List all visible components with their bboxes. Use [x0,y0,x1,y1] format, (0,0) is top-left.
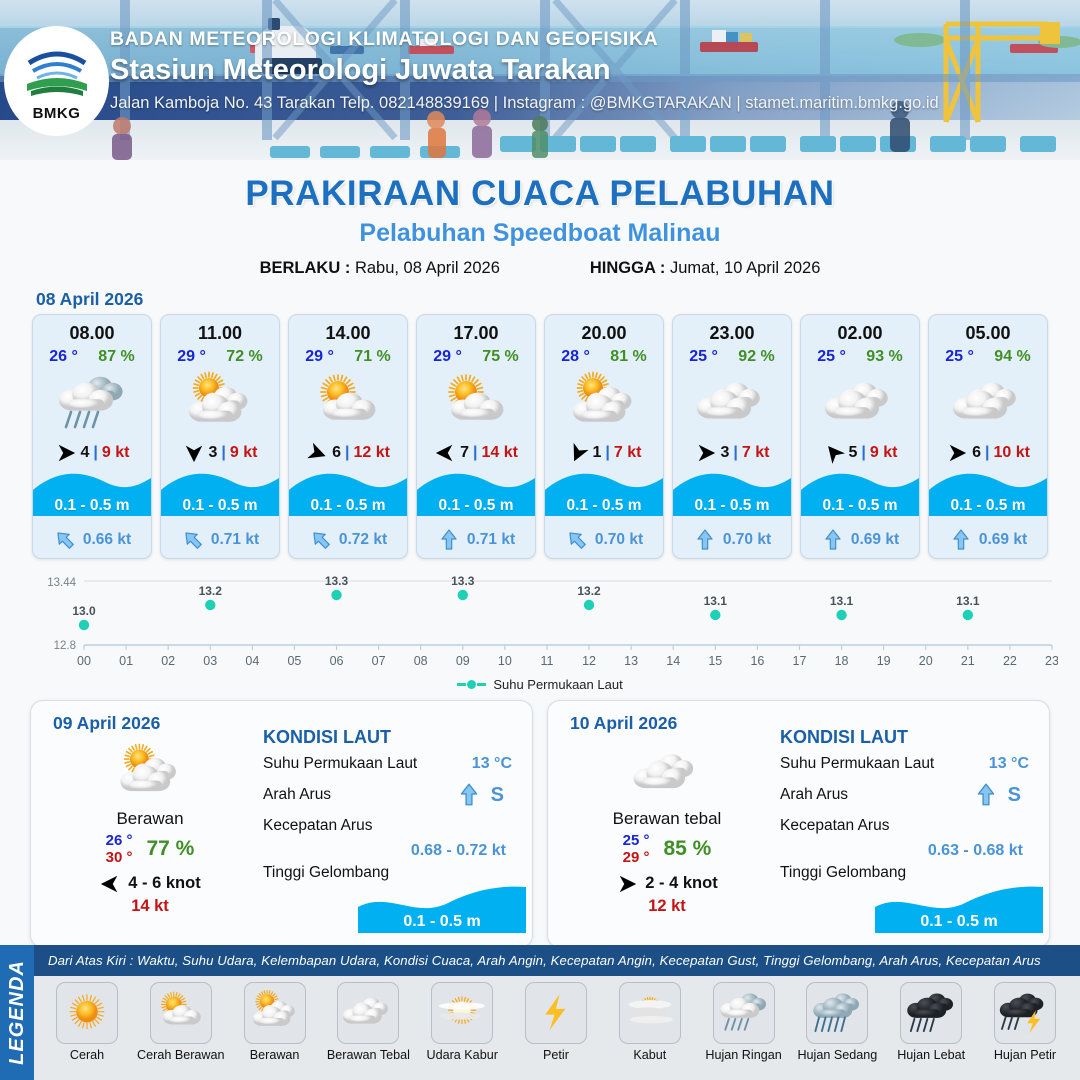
svg-text:04: 04 [245,654,259,668]
sst-chart-svg: 13.4412.80001020304050607080910111213141… [22,567,1058,675]
panel-sst-value: 13 °C [472,755,512,773]
haze-icon [431,988,493,1034]
sun-icon [56,988,118,1034]
current-direction-icon [176,523,210,557]
sst-chart: 13.4412.80001020304050607080910111213141… [22,567,1058,675]
card-wave: 0.1 - 0.5 m [417,468,535,522]
legend-item-label: Hujan Ringan [699,1048,789,1062]
panel-current-speed-label: Kecepatan Arus [780,817,889,834]
hourly-forecast-row: 08.00 26 ° 87 % [0,314,1080,559]
panel-sst-value: 13 °C [989,755,1029,773]
card-current: 0.66 kt [33,522,151,558]
card-current-speed: 0.70 kt [723,531,771,549]
card-wave: 0.1 - 0.5 m [545,468,663,522]
panel-date: 10 April 2026 [570,713,677,734]
svg-text:12: 12 [582,654,596,668]
card-humidity: 87 % [98,348,134,366]
panel-current-dir-value: S [456,782,504,808]
card-gust: 9 kt [230,444,258,462]
card-weather-icon [929,366,1047,438]
card-humidity: 93 % [866,348,902,366]
svg-text:09: 09 [456,654,470,668]
legend-item: Hujan Petir [980,982,1070,1062]
hourly-card[interactable]: 05.00 25 ° 94 % [928,314,1048,559]
cloudy-icon [945,370,1031,434]
card-wind-speed: 3 [721,444,730,462]
partly-cloudy-icon [244,988,306,1034]
svg-text:02: 02 [161,654,175,668]
card-time: 05.00 [929,323,1047,344]
card-wave: 0.1 - 0.5 m [673,468,791,522]
panel-temp-min: 25 ° [623,832,650,849]
legend-item-label: Berawan Tebal [323,1048,413,1062]
panel-temp-max: 30 ° [106,849,133,866]
legend-item: Hujan Sedang [792,982,882,1062]
card-temperature: 25 ° [945,348,974,366]
card-gust: 7 kt [614,444,642,462]
current-direction-icon [437,528,461,552]
legend-item: Kabut [605,982,695,1062]
legend-item-label: Cerah Berawan [136,1048,226,1062]
panel-sea-section-title: KONDISI LAUT [780,727,1035,748]
current-direction-icon [304,523,338,557]
wind-direction-icon [818,438,849,469]
panel-sea-section-title: KONDISI LAUT [263,727,518,748]
card-wave: 0.1 - 0.5 m [929,468,1047,522]
current-direction-icon [456,782,482,808]
rain-light-icon [49,370,135,434]
wind-direction-icon [563,438,592,467]
hourly-card[interactable]: 20.00 28 ° 81 % [544,314,664,559]
partly-cloudy-icon [561,370,647,434]
panel-humidity: 77 % [146,837,194,861]
card-weather-icon [417,366,535,438]
card-current: 0.71 kt [417,522,535,558]
legend-item-icon [337,982,399,1044]
card-wind-speed: 6 [332,444,341,462]
card-wave-height: 0.1 - 0.5 m [545,497,663,515]
legend-item-label: Hujan Lebat [886,1048,976,1062]
panel-current-dir-value: S [973,782,1021,808]
legend-item-label: Berawan [230,1048,320,1062]
page-header: BMKG BADAN METEOROLOGI KLIMATOLOGI DAN G… [0,0,1080,160]
cloudy-icon [817,370,903,434]
svg-text:07: 07 [372,654,386,668]
sun-cloud-icon [150,988,212,1034]
svg-text:13.3: 13.3 [325,574,349,588]
card-wave-height: 0.1 - 0.5 m [673,497,791,515]
card-wind: 7 | 14 kt [417,438,535,468]
partly-cloudy-icon [109,742,191,803]
card-time: 02.00 [801,323,919,344]
legend-item-label: Petir [511,1048,601,1062]
card-time: 11.00 [161,323,279,344]
current-direction-icon [693,528,717,552]
panel-weather-icon [41,739,259,805]
wind-direction-icon [946,442,968,464]
panel-temp-min: 26 ° [106,832,133,849]
legend-side-title-text: LEGENDA [6,960,29,1065]
svg-text:10: 10 [498,654,512,668]
svg-text:13.1: 13.1 [956,594,980,608]
svg-text:11: 11 [540,654,553,668]
valid-until-label: HINGGA : [590,259,665,277]
wind-direction-icon [99,873,121,895]
station-name: Stasiun Meteorologi Juwata Tarakan [110,54,939,87]
svg-text:13.44: 13.44 [47,577,76,589]
panel-weather-icon [558,739,776,805]
svg-text:13: 13 [624,654,638,668]
card-wave: 0.1 - 0.5 m [161,468,279,522]
card-temperature: 28 ° [561,348,590,366]
validity-row: BERLAKU : Rabu, 08 April 2026 HINGGA : J… [0,259,1080,278]
panel-wind-range: 4 - 6 knot [128,874,200,893]
legend-item-icon [525,982,587,1044]
legend-item-label: Hujan Petir [980,1048,1070,1062]
card-current: 0.70 kt [673,522,791,558]
card-current-speed: 0.72 kt [339,531,387,549]
panel-weather-desc: Berawan tebal [558,809,776,829]
card-gust: 9 kt [102,444,130,462]
sst-chart-legend: Suhu Permukaan Laut [0,677,1080,692]
panel-wave-value: 0.1 - 0.5 m [875,913,1043,931]
valid-from-value: Rabu, 08 April 2026 [355,259,500,277]
card-current: 0.71 kt [161,522,279,558]
svg-text:22: 22 [1003,654,1017,668]
hourly-card[interactable]: 08.00 26 ° 87 % [32,314,152,559]
svg-text:05: 05 [287,654,301,668]
card-wave-height: 0.1 - 0.5 m [801,497,919,515]
current-direction-icon [821,528,845,552]
panel-wave: 0.1 - 0.5 m [875,885,1043,937]
legend-item-icon [994,982,1056,1044]
card-wave-height: 0.1 - 0.5 m [33,497,151,515]
card-weather-icon [673,366,791,438]
sst-legend-label: Suhu Permukaan Laut [493,677,622,692]
panel-current-dir-row: Arah Arus S [780,786,1035,817]
card-gust: 10 kt [993,444,1029,462]
svg-text:14: 14 [666,654,680,668]
legend-items: Cerah Cerah Berawan [34,976,1080,1080]
card-wind-speed: 4 [81,444,90,462]
svg-text:13.0: 13.0 [72,604,96,618]
card-wind: 4 | 9 kt [33,438,151,468]
page-subtitle: Pelabuhan Speedboat Malinau [0,219,1080,248]
card-weather-icon [289,366,407,438]
panel-wind-range: 2 - 4 knot [645,874,717,893]
legend-item-label: Hujan Sedang [792,1048,882,1062]
card-wave: 0.1 - 0.5 m [33,468,151,522]
legend-item-icon [244,982,306,1044]
svg-text:08: 08 [414,654,428,668]
card-time: 23.00 [673,323,791,344]
lightning-icon [525,988,587,1034]
svg-text:19: 19 [877,654,891,668]
legend-note: Dari Atas Kiri : Waktu, Suhu Udara, Kele… [34,945,1080,976]
svg-text:20: 20 [919,654,933,668]
daily-forecast-panel[interactable]: 10 April 2026 [547,700,1050,948]
card-humidity: 72 % [226,348,262,366]
fog-icon [619,988,681,1034]
legend-item-icon [431,982,493,1044]
hourly-card[interactable]: 11.00 29 ° 72 % [160,314,280,559]
card-wind-speed: 3 [209,444,218,462]
card-weather-icon [801,366,919,438]
card-current: 0.69 kt [929,522,1047,558]
card-weather-icon [33,366,151,438]
svg-text:13.2: 13.2 [577,584,601,598]
legend-item-icon [150,982,212,1044]
hourly-day-label: 08 April 2026 [36,289,1080,310]
card-current: 0.72 kt [289,522,407,558]
partly-cloudy-icon [177,370,263,434]
panel-current-dir-row: Arah Arus S [263,786,518,817]
card-wave-height: 0.1 - 0.5 m [161,497,279,515]
title-block: PRAKIRAAN CUACA PELABUHAN Pelabuhan Spee… [0,174,1080,278]
card-weather-icon [545,366,663,438]
agency-name: BADAN METEOROLOGI KLIMATOLOGI DAN GEOFIS… [110,28,939,51]
panel-temp-max: 29 ° [623,849,650,866]
wind-direction-icon [616,873,638,895]
card-current: 0.70 kt [545,522,663,558]
card-gust: 9 kt [870,444,898,462]
legend-item: Cerah Berawan [136,982,226,1062]
card-humidity: 71 % [354,348,390,366]
svg-text:03: 03 [203,654,217,668]
card-current-speed: 0.69 kt [851,531,899,549]
card-temperature: 29 ° [177,348,206,366]
panel-date: 09 April 2026 [53,713,160,734]
card-humidity: 81 % [610,348,646,366]
hourly-card[interactable]: 17.00 29 ° 75 % [416,314,536,559]
card-time: 17.00 [417,323,535,344]
panel-wind: 4 - 6 knot [41,873,259,895]
card-time: 20.00 [545,323,663,344]
legend-item: Petir [511,982,601,1062]
valid-until-value: Jumat, 10 April 2026 [670,259,820,277]
card-wind-separator: | [733,444,737,462]
hourly-card[interactable]: 14.00 29 ° 71 % [288,314,408,559]
daily-forecast-row: 09 April 2026 [0,692,1080,948]
bmkg-logo: BMKG [4,26,109,136]
legend-item-icon [806,982,868,1044]
legend-item: Hujan Ringan [699,982,789,1062]
cloudy-icon [626,742,708,803]
panel-current-speed-label: Kecepatan Arus [263,817,372,834]
legend-item: Udara Kabur [417,982,507,1062]
contact-info: Jalan Kamboja No. 43 Tarakan Telp. 08214… [110,94,939,113]
svg-text:21: 21 [961,654,975,668]
card-wave: 0.1 - 0.5 m [801,468,919,522]
card-humidity: 92 % [738,348,774,366]
valid-from-label: BERLAKU : [260,259,351,277]
current-direction-icon [48,523,82,557]
panel-current-speed-row: Kecepatan Arus [780,817,1035,848]
svg-text:06: 06 [330,654,344,668]
legend-item: Hujan Lebat [886,982,976,1062]
card-wave-height: 0.1 - 0.5 m [929,497,1047,515]
valid-from: BERLAKU : Rabu, 08 April 2026 [260,259,500,278]
svg-text:15: 15 [708,654,722,668]
legend-item-icon [619,982,681,1044]
svg-text:13.1: 13.1 [704,594,728,608]
card-wind-separator: | [93,444,97,462]
current-direction-icon [949,528,973,552]
card-wind-separator: | [861,444,865,462]
panel-wind: 2 - 4 knot [558,873,776,895]
panel-wave: 0.1 - 0.5 m [358,885,526,937]
card-wind-separator: | [473,444,477,462]
thunderstorm-icon [994,988,1056,1034]
card-wind-speed: 6 [972,444,981,462]
legend-side-title: LEGENDA [0,945,34,1080]
panel-wave-label: Tinggi Gelombang [780,864,906,881]
rain-light-icon [713,988,775,1034]
card-wind: 3 | 9 kt [161,438,279,468]
svg-text:13.2: 13.2 [199,584,223,598]
legend-item: Berawan [230,982,320,1062]
daily-forecast-panel[interactable]: 09 April 2026 [30,700,533,948]
card-wind: 6 | 10 kt [929,438,1047,468]
svg-text:01: 01 [119,654,133,668]
card-current-speed: 0.66 kt [83,531,131,549]
page-title: PRAKIRAAN CUACA PELABUHAN [0,174,1080,214]
svg-text:13.3: 13.3 [451,574,475,588]
card-wind: 5 | 9 kt [801,438,919,468]
sun-cloud-icon [433,370,519,434]
card-temperature: 29 ° [433,348,462,366]
panel-current-speed-row: Kecepatan Arus [263,817,518,848]
bmkg-logo-icon [21,41,93,103]
card-wind: 1 | 7 kt [545,438,663,468]
card-wind-separator: | [345,444,349,462]
card-temperature: 26 ° [49,348,78,366]
card-humidity: 75 % [482,348,518,366]
svg-text:12.8: 12.8 [54,640,76,652]
cloudy-icon [689,370,775,434]
panel-sst-label: Suhu Permukaan Laut [263,755,417,772]
panel-humidity: 85 % [663,837,711,861]
card-weather-icon [161,366,279,438]
card-wind-separator: | [221,444,225,462]
current-direction-icon [973,782,999,808]
card-temperature: 25 ° [689,348,718,366]
panel-gust: 12 kt [558,897,776,916]
svg-text:23: 23 [1045,654,1058,668]
panel-weather-desc: Berawan [41,809,259,829]
panel-sst-label: Suhu Permukaan Laut [780,755,934,772]
legend-section: LEGENDA Dari Atas Kiri : Waktu, Suhu Uda… [0,945,1080,1080]
legend-item-icon [56,982,118,1044]
legend-item-label: Cerah [42,1048,132,1062]
card-wind: 6 | 12 kt [289,438,407,468]
panel-current-dir-label: Arah Arus [780,786,848,803]
cloudy-icon [337,988,399,1034]
card-gust: 7 kt [742,444,770,462]
card-current: 0.69 kt [801,522,919,558]
card-current-speed: 0.69 kt [979,531,1027,549]
wind-direction-icon [183,442,205,464]
card-current-speed: 0.70 kt [595,531,643,549]
wind-direction-icon [434,442,456,464]
wind-direction-icon [303,439,331,467]
valid-until: HINGGA : Jumat, 10 April 2026 [590,259,821,278]
svg-text:00: 00 [77,654,91,668]
panel-wave-value: 0.1 - 0.5 m [358,913,526,931]
rain-heavy-icon [900,988,962,1034]
card-gust: 12 kt [353,444,389,462]
card-wind-speed: 7 [460,444,469,462]
card-wind-separator: | [985,444,989,462]
svg-text:17: 17 [793,654,807,668]
card-gust: 14 kt [481,444,517,462]
card-time: 08.00 [33,323,151,344]
legend-item: Berawan Tebal [323,982,413,1062]
legend-item-label: Udara Kabur [417,1048,507,1062]
hourly-card[interactable]: 23.00 25 ° 92 % [672,314,792,559]
hourly-card[interactable]: 02.00 25 ° 93 % [800,314,920,559]
panel-wave-label: Tinggi Gelombang [263,864,389,881]
sun-cloud-icon [305,370,391,434]
card-time: 14.00 [289,323,407,344]
sst-legend-marker [457,680,486,689]
panel-current-dir-label: Arah Arus [263,786,331,803]
card-wind-speed: 5 [849,444,858,462]
card-current-speed: 0.71 kt [211,531,259,549]
legend-item-label: Kabut [605,1048,695,1062]
card-wave-height: 0.1 - 0.5 m [417,497,535,515]
legend-item-icon [900,982,962,1044]
card-wave: 0.1 - 0.5 m [289,468,407,522]
card-wave-height: 0.1 - 0.5 m [289,497,407,515]
svg-text:13.1: 13.1 [830,594,854,608]
card-humidity: 94 % [994,348,1030,366]
svg-text:18: 18 [835,654,849,668]
card-wind-speed: 1 [593,444,602,462]
wind-direction-icon [55,442,77,464]
legend-item-icon [713,982,775,1044]
card-wind-separator: | [605,444,609,462]
panel-gust: 14 kt [41,897,259,916]
bmkg-logo-text: BMKG [33,105,81,122]
card-temperature: 29 ° [305,348,334,366]
current-direction-icon [560,523,594,557]
svg-text:16: 16 [750,654,764,668]
card-current-speed: 0.71 kt [467,531,515,549]
card-wind: 3 | 7 kt [673,438,791,468]
rain-moderate-icon [806,988,868,1034]
legend-item: Cerah [42,982,132,1062]
card-temperature: 25 ° [817,348,846,366]
wind-direction-icon [695,442,717,464]
